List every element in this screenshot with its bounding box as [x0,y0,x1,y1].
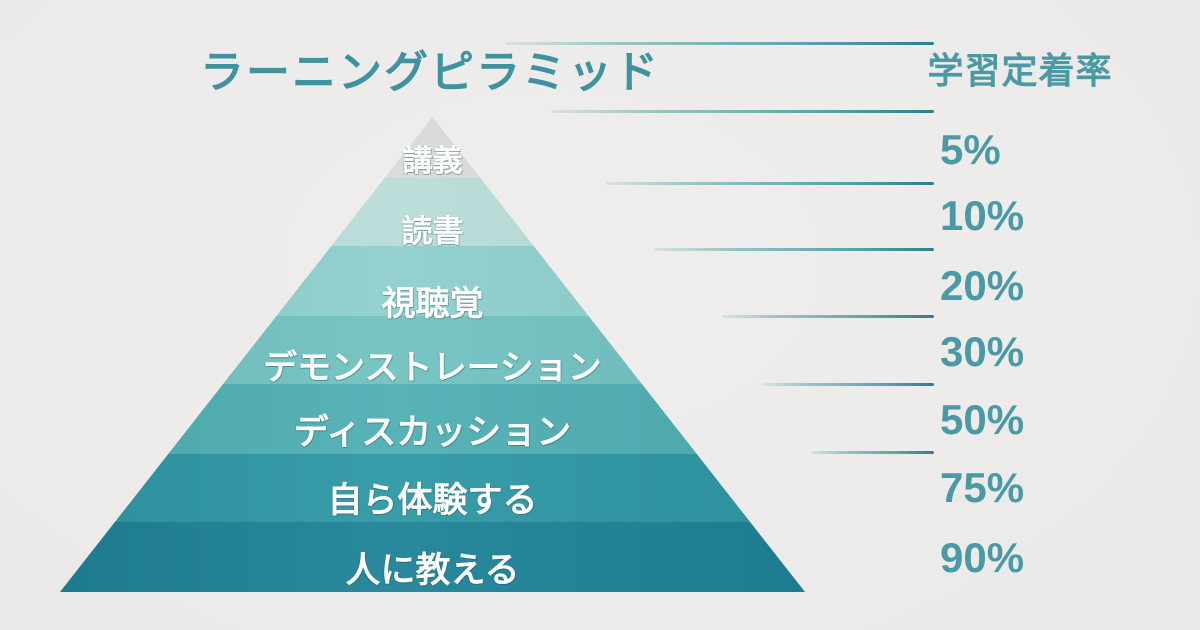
connector-line-2 [551,110,934,113]
connector-line-5 [722,315,934,318]
retention-value-2: 10% [940,192,1170,240]
retention-value-3: 20% [940,262,1170,310]
page-title: ラーニングピラミッド [0,36,860,100]
infographic-canvas: ラーニングピラミッド 学習定着率 [0,0,1200,630]
retention-value-7: 90% [940,534,1170,582]
retention-value-4: 30% [940,328,1170,376]
retention-rate-heading: 学習定着率 [880,42,1160,94]
retention-value-1: 5% [940,126,1170,174]
retention-value-5: 50% [940,396,1170,444]
connector-line-6 [763,383,934,386]
connector-line-7 [811,451,934,454]
connector-line-4 [654,248,934,251]
connector-line-1 [506,42,934,45]
retention-value-6: 75% [940,464,1170,512]
connector-line-3 [606,182,934,185]
